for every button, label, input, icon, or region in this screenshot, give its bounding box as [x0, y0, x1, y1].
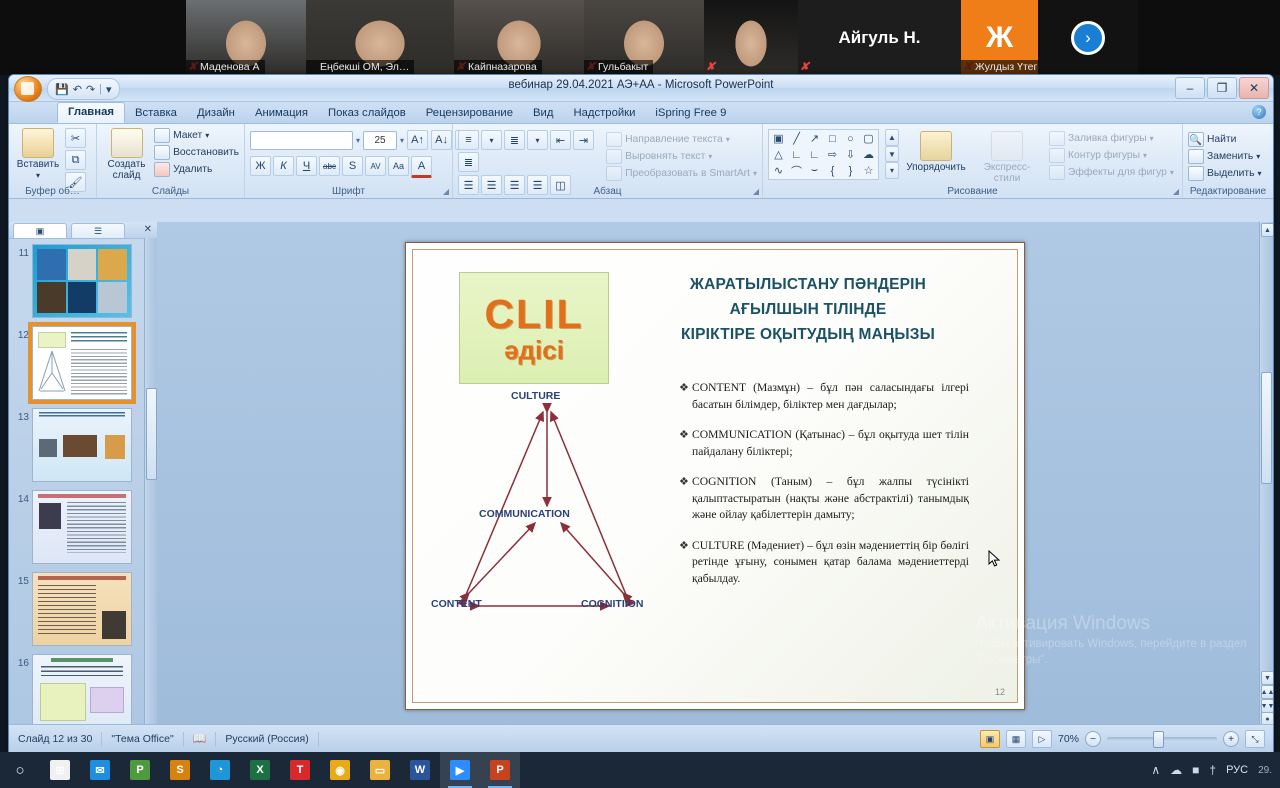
align-text-button[interactable]: Выровнять текст ▾ — [606, 149, 757, 164]
bullet-marker-icon: ❖ — [679, 380, 692, 413]
mic-muted-icon: ✘ — [800, 61, 811, 74]
next-slide-icon[interactable]: ▼▼ — [1261, 699, 1273, 713]
zoom-in-button[interactable]: + — [1223, 731, 1239, 747]
clil-logo-line1: CLIL — [484, 292, 583, 336]
powerpoint-active-icon: P — [490, 760, 510, 780]
slide-counter: Слайд 12 из 30 — [9, 732, 102, 747]
convert-smartart-button[interactable]: Преобразовать в SmartArt ▾ — [606, 166, 757, 181]
participant-video — [704, 0, 798, 75]
onedrive-icon[interactable]: ☁ — [1170, 763, 1182, 777]
strikethrough-button[interactable]: abc — [319, 156, 340, 176]
close-button[interactable]: ✕ — [1239, 77, 1269, 99]
ribbon-group-clipboard: Вставить ▾ ✂ ⧉ 🖌 Буфер об… — [9, 124, 97, 198]
participant-name-label: Кайпназарова — [454, 60, 542, 75]
thumbnail-number: 13 — [11, 408, 32, 423]
participant-tile[interactable]: ✘Маденова А — [186, 0, 306, 75]
cloud-shape-icon[interactable]: ☁ — [860, 147, 877, 162]
taskbar-items: ○⊞✉PS◔XT◉▭W▶P — [0, 752, 520, 788]
taskbar-word[interactable]: W — [400, 752, 440, 788]
text-shadow-button[interactable]: S — [342, 156, 363, 176]
thumbnail-number: 12 — [11, 326, 32, 341]
mail-icon: ✉ — [90, 760, 110, 780]
slide-sorter-button[interactable]: ▦ — [1006, 730, 1026, 748]
ribbon-tab-1[interactable]: Вставка — [125, 104, 187, 123]
shapes-scroll-down-icon[interactable]: ▼ — [885, 146, 899, 163]
ribbon-tab-0[interactable]: Главная — [57, 102, 125, 123]
taskbar-chrome[interactable]: ◉ — [320, 752, 360, 788]
group-label-clipboard: Буфер об… — [9, 186, 96, 197]
select-button[interactable]: Выделить ▾ — [1188, 166, 1262, 181]
underline-button[interactable]: Ч — [296, 156, 317, 176]
paste-icon — [22, 128, 54, 158]
new-slide-icon — [111, 128, 143, 158]
sway-icon: S — [170, 760, 190, 780]
line-spacing-icon[interactable]: ≣ — [458, 152, 479, 172]
shapes-more-icon[interactable]: ▾ — [885, 162, 899, 179]
italic-button[interactable]: К — [273, 156, 294, 176]
down-arrow-shape-icon[interactable]: ⇩ — [842, 147, 859, 162]
shape-fill-button[interactable]: Заливка фигуры ▾ — [1049, 131, 1174, 146]
font-color-button[interactable]: A — [411, 156, 432, 178]
ribbon-tabs: ГлавнаяВставкаДизайнАнимацияПоказ слайдо… — [9, 102, 1273, 124]
ribbon-group-editing: 🔍 Найти Заменить ▾ Выделить ▾ Редакт — [1183, 124, 1273, 198]
slide-thumbnail[interactable] — [32, 572, 132, 646]
diagram-node-content: CONTENT — [431, 598, 482, 610]
edge-icon: ◔ — [210, 760, 230, 780]
participant-name-label: Жулдыз Үтеге… — [961, 60, 1038, 75]
powerpoint-window: 💾 ↶ ↷ | ▾ вебинар 29.04.2021 АЭ+АА - Mic… — [8, 74, 1274, 754]
thumbnail-number: 14 — [11, 490, 32, 505]
thumbnail-row[interactable]: 14 — [9, 490, 145, 564]
group-label-editing: Редактирование — [1183, 186, 1273, 197]
increase-indent-icon[interactable]: ⇥ — [573, 130, 594, 150]
thumbnail-row[interactable]: 13 — [9, 408, 145, 482]
rectangle-shape-icon[interactable]: □ — [824, 131, 841, 146]
zoom-level: 70% — [1058, 733, 1079, 745]
taskbar-powerpoint-active[interactable]: P — [480, 752, 520, 788]
ribbon-tab-4[interactable]: Показ слайдов — [318, 104, 416, 123]
work-area: ▣ ☰ ✕ 111213141516 CLIL әдісі ЖАРАТЫЛЫСТ… — [9, 222, 1273, 725]
spellcheck-status[interactable]: 📖 — [184, 732, 217, 747]
participant-tile[interactable]: ✘Гульбакыт — [584, 0, 704, 75]
rounded-rect-shape-icon[interactable]: ▢ — [860, 131, 877, 146]
bullet-item: ❖CONTENT (Мазмұн) – бұл пән саласындағы … — [679, 380, 969, 413]
ribbon-tab-5[interactable]: Рецензирование — [416, 104, 523, 123]
slide-canvas[interactable]: CLIL әдісі ЖАРАТЫЛЫСТАНУ ПӘНДЕРІНАҒЫЛШЫН… — [412, 249, 1018, 703]
participant-tile[interactable]: Ж✘Жулдыз Үтеге… — [961, 0, 1038, 75]
battery-icon[interactable]: ■ — [1192, 763, 1199, 777]
word-icon: W — [410, 760, 430, 780]
status-right: ▣ ▦ ▷ 70% − + ⤡ — [980, 730, 1273, 748]
shrink-font-icon[interactable]: A↓ — [431, 130, 452, 150]
find-button[interactable]: 🔍 Найти — [1188, 132, 1262, 147]
taskbar-powerpoint-2[interactable]: P — [120, 752, 160, 788]
right-arrow-shape-icon[interactable]: ⇨ — [824, 147, 841, 162]
taskbar-start-button[interactable]: ○ — [0, 752, 40, 788]
text-direction-button[interactable]: Направление текста ▾ — [606, 132, 757, 147]
taskbar-sway[interactable]: S — [160, 752, 200, 788]
quick-styles-button[interactable]: Экспресс-стили — [973, 129, 1041, 184]
bullets-icon[interactable]: ≡ — [458, 130, 479, 150]
thumbnail-row[interactable]: 16 — [9, 654, 145, 725]
bullet-text: COGNITION (Таным) – бұл жалпы түсінікті … — [692, 474, 969, 524]
clil-triangle-diagram: CULTURE COMMUNICATION CONTENT COGNITIION — [431, 390, 661, 635]
textbox-shape-icon[interactable]: ▣ — [770, 131, 787, 146]
bullet-text: CONTENT (Мазмұн) – бұл пән саласындағы і… — [692, 380, 969, 413]
copy-icon[interactable]: ⧉ — [65, 150, 86, 170]
slide-title-line-0: ЖАРАТЫЛЫСТАНУ ПӘНДЕРІН — [628, 272, 988, 297]
ribbon-group-font: ▾ 25 ▾ A↑ A↓ ✖ Ж К Ч abc S AV Aa A — [245, 124, 453, 198]
replace-icon — [1188, 149, 1204, 164]
panel-scrollbar[interactable] — [144, 238, 157, 725]
thumbnail-row[interactable]: 12 — [9, 326, 145, 400]
participant-tile[interactable]: › — [1038, 0, 1138, 75]
telegram-icon: T — [290, 760, 310, 780]
previous-slide-icon[interactable]: ▲▲ — [1261, 685, 1273, 699]
diagram-node-culture: CULTURE — [511, 390, 560, 402]
slide-title-line-2: КІРІКТІРЕ ОҚЫТУДЫҢ МАҢЫЗЫ — [628, 322, 988, 347]
bullet-item: ❖COMMUNICATION (Қатынас) – бұл оқытуда ш… — [679, 427, 969, 460]
slide-stage: CLIL әдісі ЖАРАТЫЛЫСТАНУ ПӘНДЕРІНАҒЫЛШЫН… — [157, 222, 1273, 725]
excel-icon: X — [250, 760, 270, 780]
layout-dropdown-arrow[interactable]: ▾ — [205, 131, 209, 140]
ribbon-tab-8[interactable]: iSpring Free 9 — [645, 104, 736, 123]
find-icon: 🔍 — [1188, 132, 1204, 147]
scroll-up-icon[interactable]: ▲ — [1261, 223, 1273, 237]
bullet-text: COMMUNICATION (Қатынас) – бұл оқытуда ше… — [692, 427, 969, 460]
slide-thumbnail[interactable] — [32, 490, 132, 564]
thumbnail-row[interactable]: 11 — [9, 244, 145, 318]
group-label-drawing: Рисование — [763, 186, 1182, 197]
clil-logo-line2: әдісі — [504, 336, 564, 364]
participant-tile[interactable]: ✘Кайпназарова — [454, 0, 584, 75]
paste-button[interactable]: Вставить ▾ — [14, 126, 62, 181]
participant-name-label: Еңбекші ОМ, Эл… — [306, 60, 414, 75]
slides-panel-tabs: ▣ ☰ ✕ — [9, 222, 157, 239]
participant-tile[interactable]: Айгуль Н.✘ — [798, 0, 961, 75]
fit-to-window-button[interactable]: ⤡ — [1245, 730, 1265, 748]
shapes-gallery[interactable]: ▣ ╱ ↗ □ ○ ▢ △ ∟ ∟ ⇨ ⇩ ☁ ∿ ⌒ ⌣ { } — [768, 129, 879, 180]
chrome-icon: ◉ — [330, 760, 350, 780]
ribbon: Вставить ▾ ✂ ⧉ 🖌 Буфер об… Создать слайд — [9, 124, 1273, 199]
window-title: вебинар 29.04.2021 АЭ+АА - Microsoft Pow… — [9, 79, 1273, 91]
replace-button[interactable]: Заменить ▾ — [1188, 149, 1262, 164]
file-explorer-icon: ▭ — [370, 760, 390, 780]
bullet-text: CULTURE (Мәдениет) – бұл өзін мәдениетті… — [692, 538, 969, 588]
slide-thumbnail[interactable] — [32, 408, 132, 482]
clock-date[interactable]: 29. — [1258, 765, 1272, 776]
paragraph-dialog-launcher[interactable]: ◢ — [753, 187, 759, 196]
windows-taskbar: ○⊞✉PS◔XT◉▭W▶P ∧ ☁ ■ † РУС 29. — [0, 752, 1280, 788]
bullet-marker-icon: ❖ — [679, 427, 692, 460]
shape-effects-button[interactable]: Эффекты для фигур ▾ — [1049, 165, 1174, 180]
numbering-arrow[interactable]: ▾ — [527, 130, 548, 150]
change-case-button[interactable]: Aa — [388, 156, 409, 176]
grow-font-icon[interactable]: A↑ — [407, 130, 428, 150]
outline-tab[interactable]: ☰ — [71, 223, 125, 238]
star-shape-icon[interactable]: ☆ — [860, 163, 877, 178]
normal-view-button[interactable]: ▣ — [980, 730, 1000, 748]
slide-thumbnail[interactable] — [32, 244, 132, 318]
shape-outline-icon — [1049, 148, 1065, 163]
bullet-item: ❖CULTURE (Мәдениет) – бұл өзін мәдениетт… — [679, 538, 969, 588]
bullet-list[interactable]: ❖CONTENT (Мазмұн) – бұл пән саласындағы … — [679, 380, 969, 601]
bullets-arrow[interactable]: ▾ — [481, 130, 502, 150]
thumbnail-list[interactable]: 111213141516 — [9, 238, 145, 725]
status-bar: Слайд 12 из 30 "Тема Office" 📖 Русский (… — [9, 724, 1273, 753]
help-icon[interactable]: ? — [1252, 105, 1266, 119]
panel-scroll-thumb[interactable] — [146, 388, 157, 480]
curve-shape-icon[interactable]: ⌒ — [788, 163, 805, 178]
new-slide-button[interactable]: Создать слайд — [102, 126, 151, 181]
bold-button[interactable]: Ж — [250, 156, 271, 176]
spellcheck-icon: 📖 — [193, 732, 207, 747]
decrease-indent-icon[interactable]: ⇤ — [550, 130, 571, 150]
language-status[interactable]: Русский (Россия) — [216, 732, 318, 747]
zoom-out-button[interactable]: − — [1085, 731, 1101, 747]
thumbnail-number: 11 — [11, 244, 32, 259]
slideshow-button[interactable]: ▷ — [1032, 730, 1052, 748]
slide-title-line-1: АҒЫЛШЫН ТІЛІНДЕ — [628, 297, 988, 322]
participant-name-label: Гульбакыт — [584, 60, 653, 75]
microsoft-store-icon: ⊞ — [50, 760, 70, 780]
participant-tile[interactable] — [1138, 0, 1280, 75]
slide-scrollbar[interactable]: ▲ ▼ ▲▲ ▼▼ ● — [1259, 222, 1273, 725]
font-size-arrow[interactable]: ▾ — [400, 136, 404, 145]
ribbon-group-drawing: ▣ ╱ ↗ □ ○ ▢ △ ∟ ∟ ⇨ ⇩ ☁ ∿ ⌒ ⌣ { } — [763, 124, 1183, 198]
font-dialog-launcher[interactable]: ◢ — [443, 187, 449, 196]
zoom-slider-thumb[interactable] — [1153, 731, 1164, 748]
participant-name-label: Маденова А — [186, 60, 265, 75]
show-hidden-icons[interactable]: ∧ — [1151, 763, 1160, 777]
ribbon-tab-2[interactable]: Дизайн — [187, 104, 245, 123]
right-brace-shape-icon[interactable]: } — [842, 163, 859, 178]
arrange-icon — [920, 131, 952, 161]
character-spacing-button[interactable]: AV — [365, 156, 386, 176]
shape-fill-icon — [1049, 131, 1065, 146]
bullet-marker-icon: ❖ — [679, 538, 692, 588]
clil-logo: CLIL әдісі — [459, 272, 609, 384]
layout-icon — [154, 128, 170, 143]
quick-styles-icon — [991, 131, 1023, 161]
diagram-node-cognition: COGNITIION — [581, 598, 643, 610]
theme-name[interactable]: "Тема Office" — [102, 732, 183, 747]
ribbon-tab-7[interactable]: Надстройки — [563, 104, 645, 123]
window-controls: – ❐ ✕ — [1175, 77, 1269, 99]
taskbar-microsoft-store[interactable]: ⊞ — [40, 752, 80, 788]
next-participants-button[interactable]: › — [1071, 21, 1105, 55]
arrow-shape-icon[interactable]: ↗ — [806, 131, 823, 146]
mic-muted-icon: ✘ — [706, 61, 717, 74]
taskbar-edge[interactable]: ◔ — [200, 752, 240, 788]
group-label-slides: Слайды — [97, 186, 244, 197]
group-label-paragraph: Абзац — [453, 186, 762, 197]
taskbar-mail[interactable]: ✉ — [80, 752, 120, 788]
delete-button[interactable]: Удалить — [154, 162, 239, 177]
current-slide[interactable]: CLIL әдісі ЖАРАТЫЛЫСТАНУ ПӘНДЕРІНАҒЫЛШЫН… — [405, 242, 1025, 710]
taskbar-telegram[interactable]: T — [280, 752, 320, 788]
system-tray: ∧ ☁ ■ † РУС 29. — [1151, 763, 1280, 777]
shapes-scroll-up-icon[interactable]: ▲ — [885, 129, 899, 146]
scroll-down-icon[interactable]: ▼ — [1261, 671, 1273, 685]
network-icon[interactable]: † — [1209, 763, 1216, 777]
font-name-combobox[interactable] — [250, 131, 353, 150]
group-label-font: Шрифт — [245, 186, 452, 197]
taskbar-file-explorer[interactable]: ▭ — [360, 752, 400, 788]
zoom-app-icon: ▶ — [450, 760, 470, 780]
close-panel-icon[interactable]: ✕ — [144, 224, 152, 235]
stage-scroll-thumb[interactable] — [1261, 372, 1272, 484]
ribbon-group-slides: Создать слайд Макет ▾ Восстановить Удали — [97, 124, 245, 198]
line-shape-icon[interactable]: ╱ — [788, 131, 805, 146]
shape-outline-button[interactable]: Контур фигуры ▾ — [1049, 148, 1174, 163]
diagram-node-communication: COMMUNICATION — [479, 508, 570, 520]
slide-title: ЖАРАТЫЛЫСТАНУ ПӘНДЕРІНАҒЫЛШЫН ТІЛІНДЕКІР… — [628, 272, 988, 347]
layout-button[interactable]: Макет ▾ — [154, 128, 239, 143]
numbering-icon[interactable]: ≣ — [504, 130, 525, 150]
arc-shape-icon[interactable]: ⌣ — [806, 163, 823, 178]
reset-icon — [154, 145, 170, 160]
start-button-icon: ○ — [10, 760, 30, 780]
taskbar-excel[interactable]: X — [240, 752, 280, 788]
text-direction-icon — [606, 132, 622, 147]
left-brace-shape-icon[interactable]: { — [824, 163, 841, 178]
thumbnail-number: 16 — [11, 654, 32, 669]
participant-tile[interactable]: ✘ — [704, 0, 798, 75]
powerpoint-2-icon: P — [130, 760, 150, 780]
arrange-button[interactable]: Упорядочить — [905, 129, 967, 173]
slides-panel: ▣ ☰ ✕ 111213141516 — [9, 222, 158, 725]
elbow-connector-icon[interactable]: ∟ — [788, 147, 805, 162]
shapes-scroll-controls[interactable]: ▲ ▼ ▾ — [885, 129, 899, 179]
delete-icon — [154, 162, 170, 177]
reset-button[interactable]: Восстановить — [154, 145, 239, 160]
language-indicator[interactable]: РУС — [1226, 764, 1248, 776]
bullet-marker-icon: ❖ — [679, 474, 692, 524]
align-text-icon — [606, 149, 622, 164]
participant-display-name: Айгуль Н. — [798, 0, 961, 75]
drawing-dialog-launcher[interactable]: ◢ — [1173, 187, 1179, 196]
smartart-icon — [606, 166, 622, 181]
ribbon-tab-3[interactable]: Анимация — [245, 104, 318, 123]
elbow-arrow-icon[interactable]: ∟ — [806, 147, 823, 162]
thumbnail-row[interactable]: 15 — [9, 572, 145, 646]
ribbon-tab-6[interactable]: Вид — [523, 104, 563, 123]
slide-page-number: 12 — [995, 687, 1005, 697]
ribbon-group-paragraph: ≡ ▾ ≣ ▾ ⇤ ⇥ ≣ ☰ ☰ ☰ ☰ ◫ — [453, 124, 763, 198]
zoom-slider[interactable] — [1107, 737, 1217, 741]
taskbar-zoom-app[interactable]: ▶ — [440, 752, 480, 788]
bullet-item: ❖COGNITION (Таным) – бұл жалпы түсінікті… — [679, 474, 969, 524]
font-name-arrow[interactable]: ▾ — [356, 136, 360, 145]
title-bar: 💾 ↶ ↷ | ▾ вебинар 29.04.2021 АЭ+АА - Mic… — [9, 75, 1273, 102]
slides-tab[interactable]: ▣ — [13, 223, 67, 238]
font-size-combobox[interactable]: 25 — [363, 131, 397, 150]
participant-tile[interactable]: Еңбекші ОМ, Эл… — [306, 0, 454, 75]
oval-shape-icon[interactable]: ○ — [842, 131, 859, 146]
minimize-button[interactable]: – — [1175, 77, 1205, 99]
paste-dropdown-arrow[interactable]: ▾ — [36, 170, 40, 181]
thumbnail-number: 15 — [11, 572, 32, 587]
zoom-participants-strip: ✘Маденова АЕңбекші ОМ, Эл…✘Кайпназарова✘… — [0, 0, 1280, 75]
participant-tile[interactable] — [0, 0, 186, 75]
slide-thumbnail[interactable] — [32, 326, 132, 400]
triangle-shape-icon[interactable]: △ — [770, 147, 787, 162]
shape-effects-icon — [1049, 165, 1065, 180]
mouse-cursor — [988, 550, 1002, 568]
select-icon — [1188, 166, 1204, 181]
freeform-shape-icon[interactable]: ∿ — [770, 163, 787, 178]
cut-icon[interactable]: ✂ — [65, 128, 86, 148]
restore-button[interactable]: ❐ — [1207, 77, 1237, 99]
slide-thumbnail[interactable] — [32, 654, 132, 725]
